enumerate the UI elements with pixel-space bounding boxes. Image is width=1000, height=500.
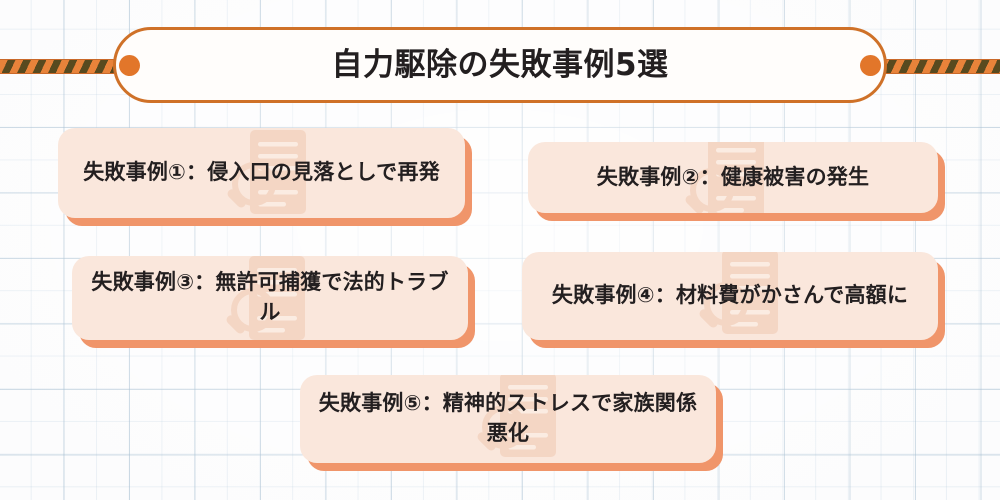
card-face: 失敗事例④：材料費がかさんで高額に (522, 252, 938, 340)
failure-case-card-5[interactable]: 失敗事例⑤：精神的ストレスで家族関係悪化 (300, 375, 716, 463)
title-pill: 自力駆除の失敗事例5選 (113, 27, 887, 103)
card-label: 失敗事例②：健康被害の発生 (583, 163, 883, 193)
right-accent-dot (860, 55, 881, 76)
card-face: 失敗事例①：侵入口の見落としで再発 (58, 128, 465, 218)
card-face: 失敗事例②：健康被害の発生 (528, 142, 938, 213)
card-label: 失敗事例④：材料費がかさんで高額に (538, 281, 922, 311)
title-banner: 自力駆除の失敗事例5選 (0, 0, 1000, 130)
card-label: 失敗事例③：無許可捕獲で法的トラブル (72, 268, 468, 328)
card-face: 失敗事例⑤：精神的ストレスで家族関係悪化 (300, 375, 716, 463)
failure-case-card-1[interactable]: 失敗事例①：侵入口の見落としで再発 (58, 128, 465, 218)
page-title: 自力駆除の失敗事例5選 (331, 50, 668, 81)
card-face: 失敗事例③：無許可捕獲で法的トラブル (72, 256, 468, 340)
failure-case-card-3[interactable]: 失敗事例③：無許可捕獲で法的トラブル (72, 256, 468, 340)
failure-case-card-4[interactable]: 失敗事例④：材料費がかさんで高額に (522, 252, 938, 340)
card-label: 失敗事例①：侵入口の見落としで再発 (69, 158, 454, 188)
left-accent-dot (119, 55, 140, 76)
card-label: 失敗事例⑤：精神的ストレスで家族関係悪化 (300, 389, 716, 449)
failure-case-card-2[interactable]: 失敗事例②：健康被害の発生 (528, 142, 938, 213)
infographic-canvas: 自力駆除の失敗事例5選 失敗事例①：侵入口の見落としで再発 (0, 0, 1000, 500)
